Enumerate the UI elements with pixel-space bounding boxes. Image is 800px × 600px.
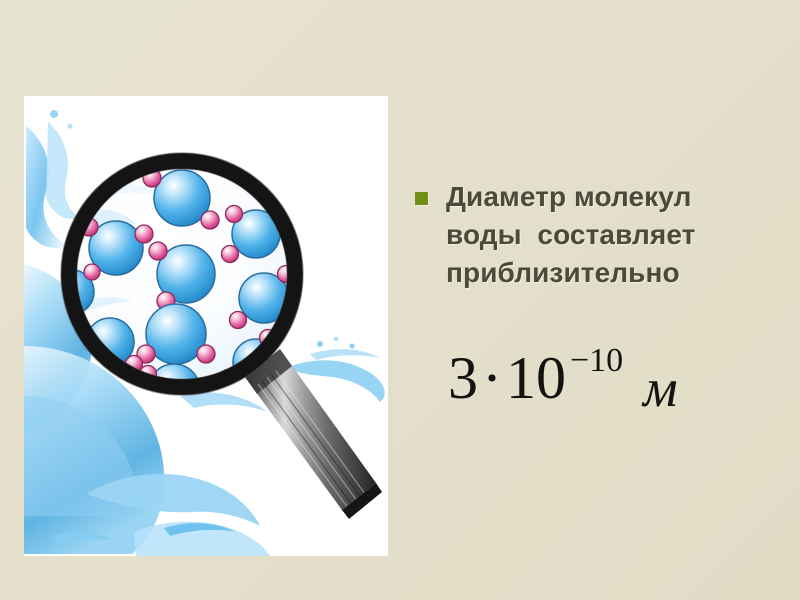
illustration-panel [24, 96, 388, 556]
formula-block: 3·10−10м [440, 338, 788, 424]
formula-unit: м [619, 358, 677, 418]
content-text-block: Диаметр молекул воды составляет приблизи… [412, 178, 788, 292]
bullet-item: Диаметр молекул воды составляет приблизи… [412, 178, 788, 292]
formula-operator: · [478, 345, 506, 411]
magnifying-glass-water-molecules-image [24, 96, 388, 556]
square-bullet-icon [415, 192, 428, 205]
bullet-text: Диаметр молекул воды составляет приблизи… [446, 178, 788, 292]
formula-exponent: −10 [570, 342, 623, 379]
slide-canvas: Диаметр молекул воды составляет приблизи… [0, 0, 800, 600]
formula-base: 10 [506, 345, 566, 411]
formula-coefficient: 3 [448, 345, 478, 411]
